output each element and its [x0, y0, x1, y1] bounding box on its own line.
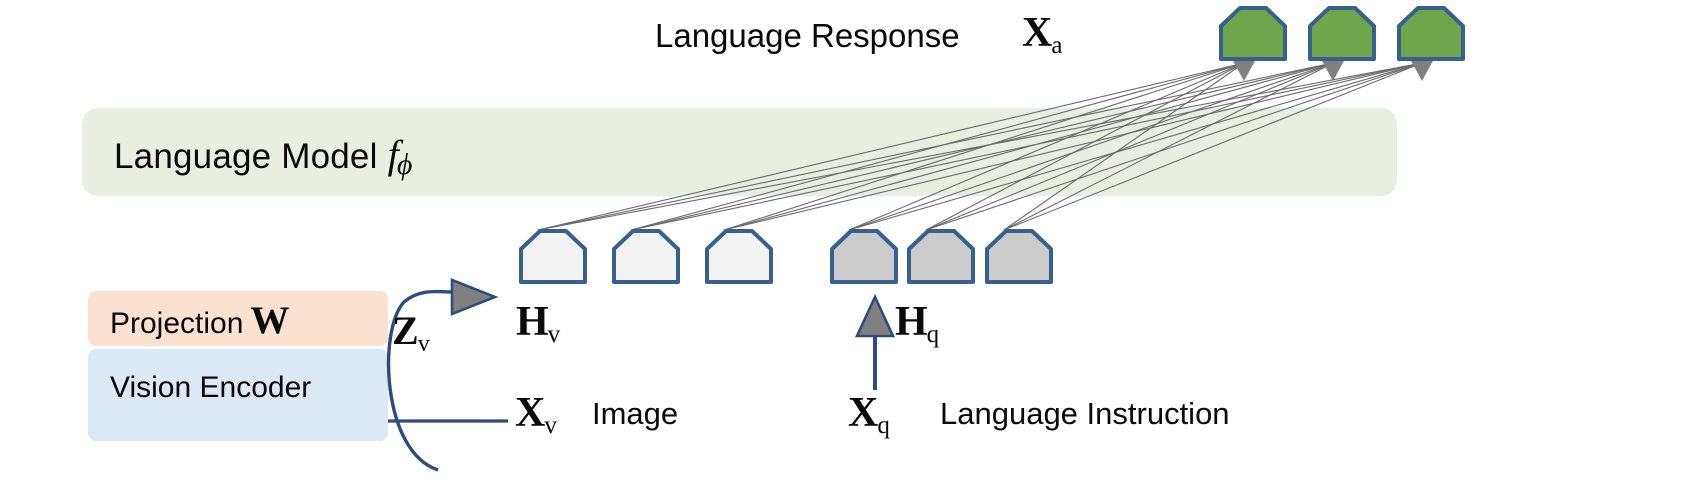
image-input-label: Image [592, 396, 678, 432]
text-token-1 [829, 228, 899, 285]
zv-base: Z [392, 308, 419, 353]
language-model-label: Language Modelfϕ [114, 131, 413, 182]
hv-sub: v [548, 321, 561, 348]
vision-encoder-label: Vision Encoder [110, 371, 311, 405]
hq-base: H [895, 299, 928, 345]
xq-base: X [848, 390, 878, 436]
language-instruction-label: Language Instruction [940, 396, 1230, 432]
xq-label: Xq [848, 389, 890, 440]
hv-base: H [516, 299, 549, 345]
text-token-2 [906, 228, 976, 285]
hq-label: Hq [895, 298, 939, 349]
output-token-3 [1396, 5, 1466, 62]
figure-canvas: Language Modelfϕ ProjectionW Vision Enco… [0, 0, 1702, 501]
text-token-3 [984, 228, 1054, 285]
output-token-1 [1218, 5, 1288, 62]
projection-text: Projection [110, 307, 243, 340]
visual-token-3 [704, 228, 774, 285]
language-model-symbol-sub: ϕ [397, 148, 413, 181]
zv-label: Zv [392, 307, 430, 358]
xv-sub: v [544, 412, 557, 439]
visual-token-2 [611, 228, 681, 285]
projection-symbol: W [243, 299, 288, 342]
xa-base: X [1022, 10, 1052, 56]
xv-label: Xv [515, 389, 557, 440]
language-model-symbol: f [378, 132, 399, 177]
visual-token-1 [518, 228, 588, 285]
zv-sub: v [418, 331, 430, 357]
wire-arrowhead [1232, 59, 1256, 81]
xq-sub: q [877, 412, 890, 439]
hq-sub: q [927, 321, 940, 348]
xv-base: X [515, 390, 545, 436]
output-token-2 [1307, 5, 1377, 62]
language-response-label: Language Response [655, 17, 960, 55]
wire-arrowhead [1410, 59, 1434, 81]
projection-label: ProjectionW [110, 298, 288, 343]
language-model-text: Language Model [114, 137, 378, 176]
wire-arrowhead [1321, 59, 1345, 81]
xa-sub: a [1051, 32, 1062, 59]
hv-label: Hv [516, 298, 560, 349]
language-response-symbol: Xa [1022, 9, 1062, 60]
hq-arrow [857, 297, 893, 390]
